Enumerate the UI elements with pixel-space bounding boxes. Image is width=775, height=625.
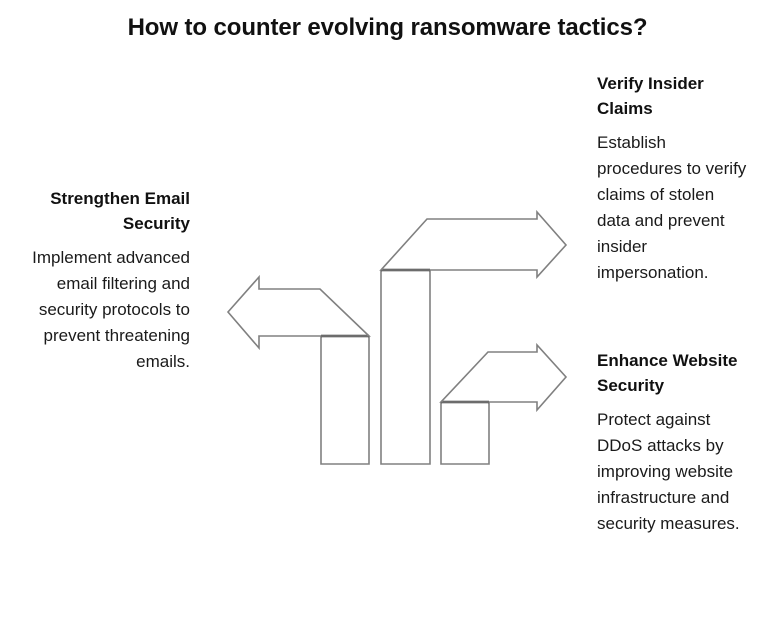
callout-body-verify-insider-claims: Establish procedures to verify claims of… [597, 121, 747, 286]
bar-strengthen-email-security [321, 336, 369, 464]
bar-1-outline [321, 336, 369, 464]
bar-verify-insider-claims [381, 270, 430, 464]
bar-3-outline [441, 402, 489, 464]
arrow-right-enhance-website-security [441, 345, 566, 410]
arrow-left-strengthen-email-security [228, 277, 369, 348]
callout-heading-enhance-website-security: Enhance Website Security [597, 348, 749, 398]
bar-enhance-website-security [441, 402, 489, 464]
callout-heading-strengthen-email-security: Strengthen Email Security [30, 186, 190, 236]
callout-heading-verify-insider-claims: Verify Insider Claims [597, 71, 747, 121]
arrow-right-verify-insider-claims [381, 212, 566, 277]
callout-body-strengthen-email-security: Implement advanced email filtering and s… [30, 236, 190, 375]
callout-verify-insider-claims: Verify Insider Claims Establish procedur… [597, 71, 747, 286]
bar-2-outline [381, 270, 430, 464]
callout-strengthen-email-security: Strengthen Email Security Implement adva… [30, 186, 190, 375]
diagram-canvas: How to counter evolving ransomware tacti… [0, 0, 775, 625]
callout-body-enhance-website-security: Protect against DDoS attacks by improvin… [597, 398, 749, 537]
callout-enhance-website-security: Enhance Website Security Protect against… [597, 348, 749, 537]
